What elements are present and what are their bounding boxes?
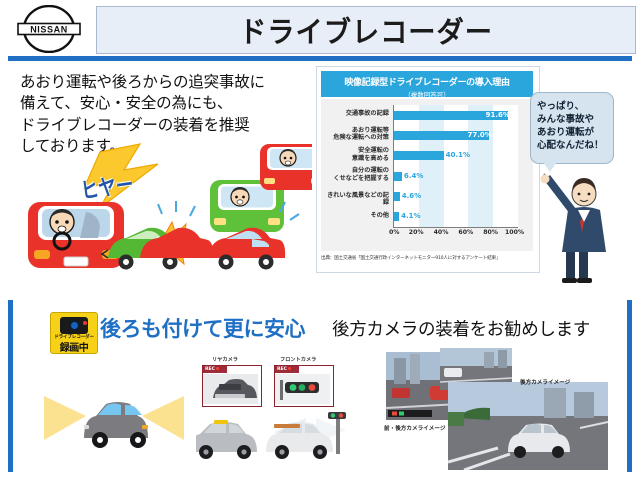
photo-label-rear: 後方カメライメージ [520, 378, 570, 386]
intro-line-3: ドライブレコーダーの装着を推奨 [20, 115, 316, 136]
chart-subtitle: （複数回答可） [321, 88, 533, 99]
chart-bar-value: 4.6% [402, 192, 421, 201]
recording-sticker: ドライブレコーダー 録画中 [50, 312, 98, 354]
rear-rec-text: REC [205, 367, 215, 372]
chart-plot-area: 91.6%77.0%40.1%6.4%4.6%4.1% 交通事故の記録あおり運転… [321, 99, 533, 251]
chart-bar-value: 6.4% [404, 172, 423, 181]
chart-category-label: 交通事故の記録 [323, 110, 389, 118]
page-header: NISSAN ドライブレコーダー [0, 0, 640, 58]
chart-bar [394, 192, 400, 201]
rec-dot-icon-2 [288, 367, 291, 370]
front-rec-text: REC [277, 367, 287, 372]
chart-source-note: 出典：国土交通省「国土交通行政インターネットモニター910人に対するアンケート結… [321, 255, 535, 261]
sticker-line-2: 録画中 [51, 339, 97, 354]
intro-line-2: 備えて、安心・安全の為にも、 [20, 93, 316, 114]
rear-rec-badge: REC [203, 366, 227, 373]
chart-category-label: その他 [323, 212, 389, 220]
chart-title-bar: 映像記録型ドライブレコーダーの導入理由 （複数回答可） [321, 71, 533, 97]
chart-xtick: 100% [505, 229, 524, 236]
front-rec-badge: REC [275, 366, 299, 373]
bottom-panel-left-border [8, 300, 13, 472]
nissan-logo: NISSAN [6, 3, 92, 55]
bubble-line-3: あおり運転が [537, 126, 607, 139]
photo-label-front-rear: 前・後方カメライメージ [384, 424, 445, 432]
rear-camera-photo [448, 382, 608, 470]
chart-xtick: 40% [434, 229, 449, 236]
chart-bar [394, 151, 444, 160]
bottom-panel-right-border [627, 300, 632, 472]
chart-category-label: 自分の運転のくせなどを把握する [323, 167, 389, 183]
bottom-heading-left: 後ろも付けて更に安心 [100, 313, 305, 343]
page-title: ドライブレコーダー [239, 9, 493, 51]
page-title-bar: ドライブレコーダー [96, 6, 636, 54]
rear-camera-label: リヤカメラ [212, 356, 238, 363]
slide-root: NISSAN ドライブレコーダー あおり運転や後ろからの追突事故に 備えて、安心… [0, 0, 640, 480]
chart-bar-value: 91.6% [486, 111, 510, 120]
intro-line-1: あおり運転や後ろからの追突事故に [20, 72, 316, 93]
survey-chart: 映像記録型ドライブレコーダーの導入理由 （複数回答可） 91.6%77.0%40… [316, 66, 540, 273]
accident-illustration: ヒヤー [12, 140, 312, 290]
speech-bubble: やっぱり、 みんな事故や あおり運転が 心配なんだね！ [530, 92, 614, 164]
rear-camera-inset: REC [202, 365, 262, 407]
chart-bar-value: 77.0% [467, 131, 491, 140]
bottom-heading-right: 後方カメラの装着をお勧めします [332, 316, 590, 341]
accident-illustration-svg [12, 140, 312, 290]
bubble-line-1: やっぱり、 [537, 100, 607, 113]
front-rear-camera-diagram: リヤカメラ REC フロントカメラ REC [196, 356, 348, 460]
chart-category-label: あおり運転等危険な運転への対策 [323, 127, 389, 143]
camera-coverage-diagram [28, 378, 198, 458]
chart-band-0 [419, 105, 444, 227]
rec-dot-icon [216, 367, 219, 370]
chart-category-label: きれいな風景などの記録 [323, 192, 389, 208]
front-camera-label: フロントカメラ [280, 356, 316, 363]
chart-axes: 91.6%77.0%40.1%6.4%4.6%4.1% [393, 105, 518, 228]
chart-bar-value: 40.1% [446, 151, 470, 160]
svg-text:NISSAN: NISSAN [30, 24, 68, 34]
chart-bar [394, 212, 399, 221]
chart-xtick: 0% [389, 229, 400, 236]
front-camera-inset: REC [274, 365, 334, 407]
chart-bar-value: 4.1% [401, 212, 420, 221]
chart-xtick: 60% [458, 229, 473, 236]
chart-bar [394, 172, 402, 181]
bubble-line-2: みんな事故や [537, 113, 607, 126]
chart-xtick: 20% [409, 229, 424, 236]
chart-category-label: 安全運転の意識を高める [323, 147, 389, 163]
salesman-illustration [528, 168, 624, 286]
camera-icon [60, 317, 88, 334]
bubble-line-4: 心配なんだね！ [537, 139, 607, 152]
chart-xtick: 80% [483, 229, 498, 236]
chart-title: 映像記録型ドライブレコーダーの導入理由 [321, 71, 533, 88]
chart-band-1 [468, 105, 493, 227]
